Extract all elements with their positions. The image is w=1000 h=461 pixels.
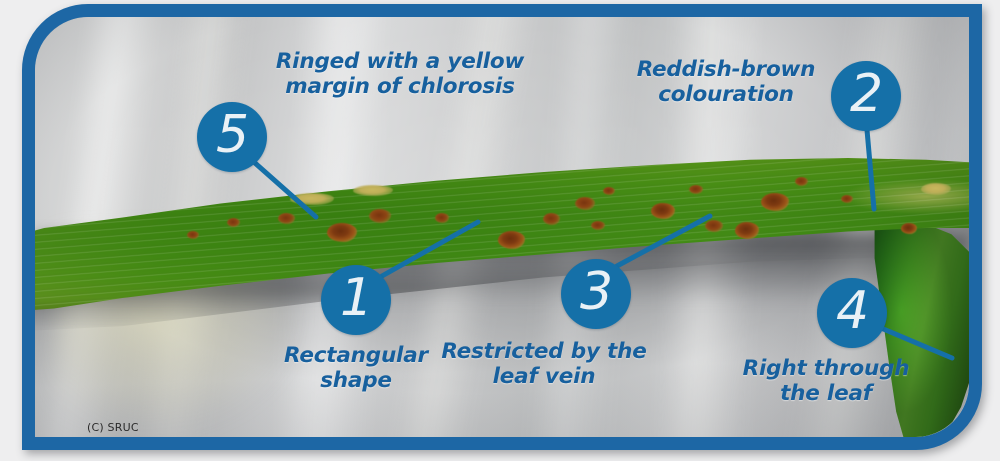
leaf-lesion (435, 213, 449, 223)
leaf-lesion (278, 213, 295, 224)
callout-bubble-1[interactable]: 1 (321, 265, 391, 335)
leaf-lesion (705, 220, 723, 232)
leaf-lesion (689, 185, 703, 194)
callout-bubble-5[interactable]: 5 (197, 102, 267, 172)
leaf-lesion (735, 222, 759, 239)
leaf-lesion (591, 221, 605, 230)
leaf-lesion (498, 231, 525, 249)
leaf-lesion (901, 223, 917, 234)
copyright-credit: (C) SRUC (87, 421, 139, 434)
leaf-lesion (575, 197, 595, 210)
callout-number-3: 3 (580, 266, 612, 318)
callout-caption-5: Ringed with a yellow margin of chlorosis (250, 50, 550, 100)
callout-caption-4: Right through the leaf (708, 357, 944, 407)
callout-bubble-3[interactable]: 3 (561, 259, 631, 329)
callout-number-2: 2 (850, 68, 882, 120)
leaf-lesion (543, 213, 560, 225)
infographic-poster: (C) SRUC 1Rectangular shape2Reddish-brow… (0, 0, 1000, 461)
leaf-lesion (369, 209, 391, 223)
leaf-lesion (841, 195, 853, 203)
leaf-lesion (327, 223, 357, 242)
leaf-lesion (795, 177, 808, 186)
callout-bubble-2[interactable]: 2 (831, 61, 901, 131)
leaf-lesion (603, 187, 615, 195)
callout-caption-3: Restricted by the leaf vein (418, 340, 670, 390)
callout-number-1: 1 (340, 272, 372, 324)
leaf-lesion (921, 183, 951, 195)
callout-number-5: 5 (216, 109, 248, 161)
leaf-lesion (651, 203, 675, 219)
callout-number-4: 4 (836, 285, 868, 337)
leaf-lesion (761, 193, 789, 211)
callout-bubble-4[interactable]: 4 (817, 278, 887, 348)
leaf-lesion (187, 231, 199, 239)
leaf-lesion (290, 193, 334, 205)
callout-caption-2: Reddish-brown colouration (616, 58, 836, 108)
leaf-lesion (227, 218, 240, 227)
leaf-lesion (353, 185, 393, 196)
